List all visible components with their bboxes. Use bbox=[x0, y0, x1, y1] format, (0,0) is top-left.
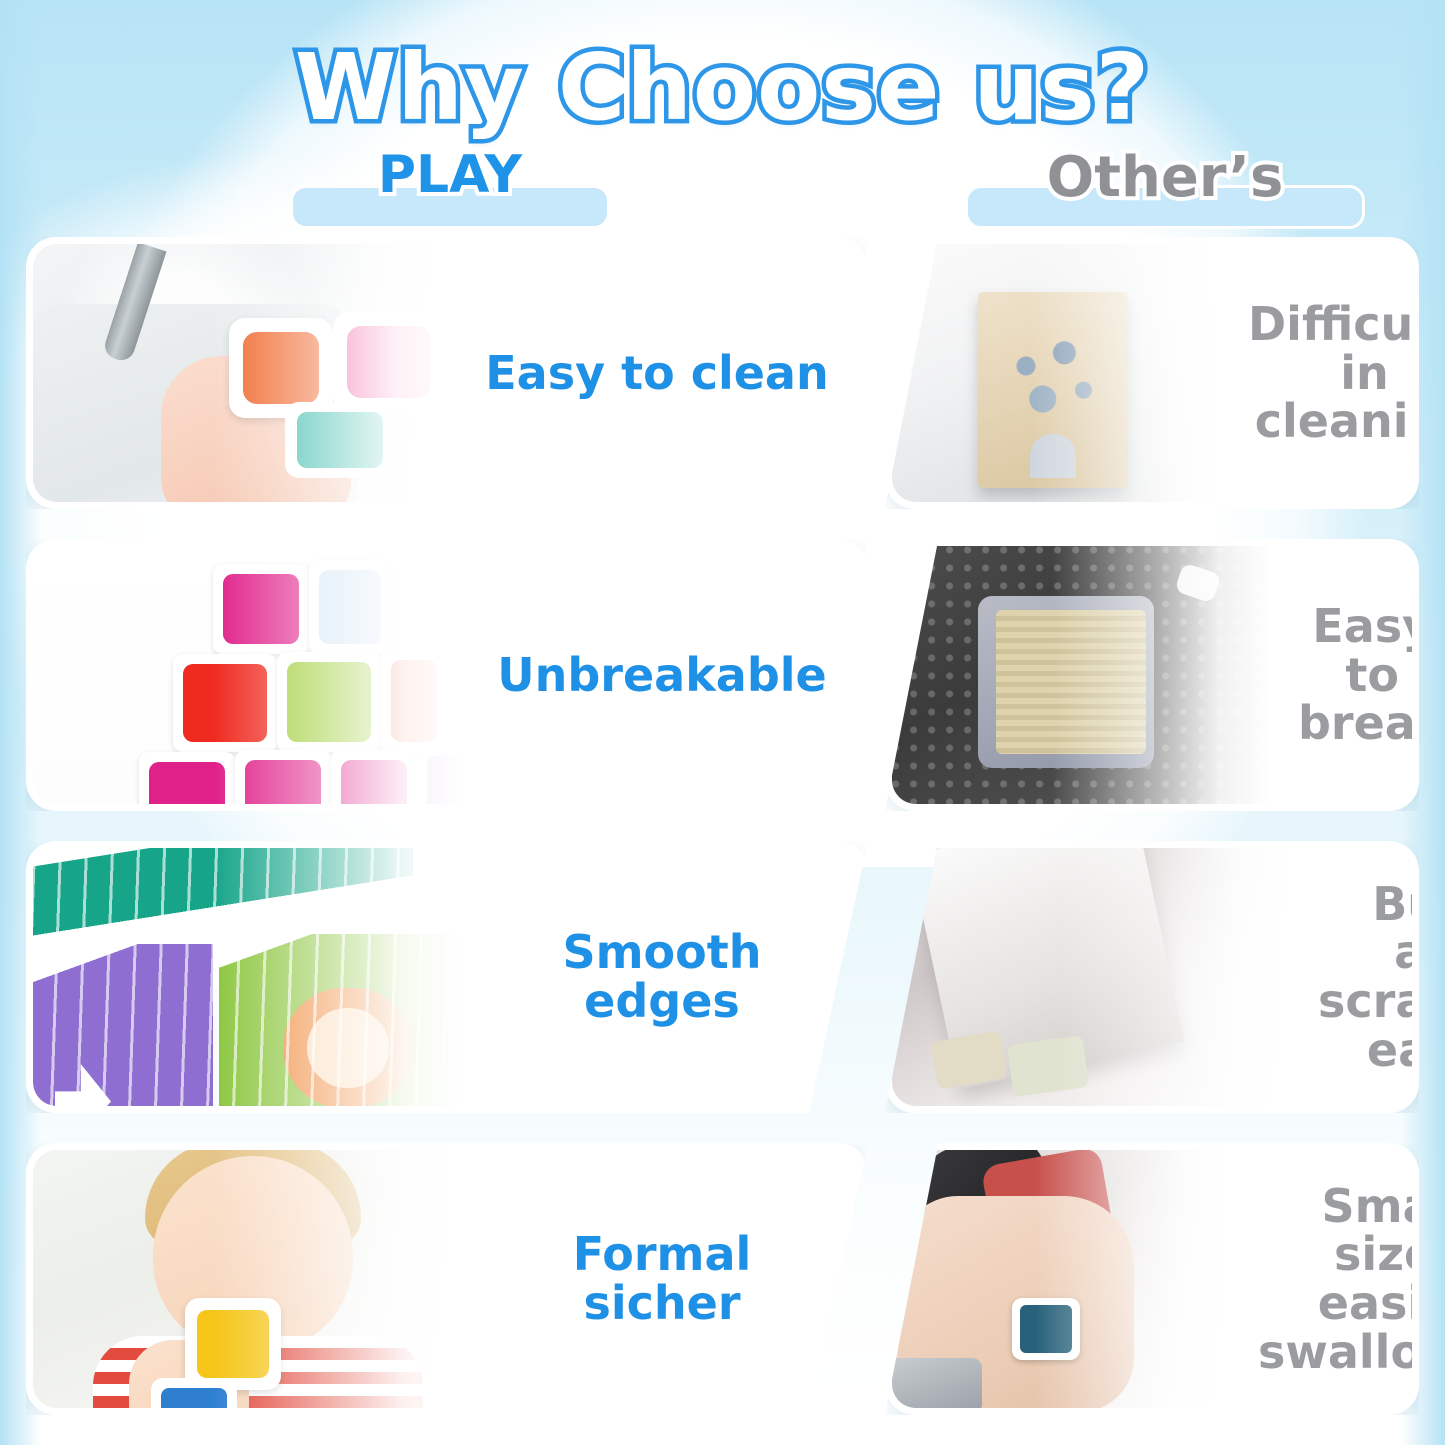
play-label-row4: Formal sicher bbox=[463, 1230, 861, 1328]
stained-wooden-block-image bbox=[892, 244, 1222, 502]
play-label-row2: Unbreakable bbox=[463, 651, 861, 700]
baby-chewing-soft-cube-image bbox=[33, 1150, 463, 1408]
column-headers: PLAY Other’s bbox=[0, 145, 1445, 237]
other-label-row3: Burrs and scratches easily bbox=[1292, 880, 1412, 1075]
tiny-block-in-adult-palm-image bbox=[892, 1150, 1232, 1408]
page-title: Why Choose us? bbox=[295, 34, 1150, 141]
other-label-row4: Small size, easily swallowed bbox=[1232, 1182, 1412, 1377]
broken-foam-block-on-carpet-image bbox=[892, 546, 1272, 804]
comparison-row: Easy to clean Difficulty in cleaning bbox=[26, 237, 1419, 525]
comparison-rows: Easy to clean Difficulty in cleaning Unb… bbox=[0, 237, 1445, 1431]
play-card-row3: Smooth edges bbox=[26, 841, 868, 1113]
comparison-row: Smooth edges Burrs and scratches easily bbox=[26, 841, 1419, 1129]
comparison-row: Formal sicher Small size, easily swallow… bbox=[26, 1143, 1419, 1431]
stacked-colorful-toy-blocks-image bbox=[33, 546, 463, 804]
play-header-label: PLAY bbox=[290, 145, 610, 205]
play-label-row3: Smooth edges bbox=[463, 928, 861, 1026]
others-header-label: Other’s bbox=[965, 145, 1365, 210]
soft-cube-rounded-corner-closeup-image bbox=[33, 848, 463, 1106]
other-card-row2: Easy to break bbox=[885, 539, 1419, 811]
toy-cube-washed-under-faucet-image bbox=[33, 244, 453, 502]
other-card-row4: Small size, easily swallowed bbox=[885, 1143, 1419, 1415]
comparison-row: Unbreakable Easy to break bbox=[26, 539, 1419, 827]
play-card-row2: Unbreakable bbox=[26, 539, 868, 811]
other-label-row1: Difficulty in cleaning bbox=[1222, 300, 1412, 446]
play-card-row4: Formal sicher bbox=[26, 1143, 868, 1415]
other-card-row1: Difficulty in cleaning bbox=[885, 237, 1419, 509]
title-area: Why Choose us? bbox=[0, 0, 1445, 141]
play-card-row1: Easy to clean bbox=[26, 237, 868, 509]
other-card-row3: Burrs and scratches easily bbox=[885, 841, 1419, 1113]
scratched-wooden-slab-edge-image bbox=[892, 848, 1292, 1106]
other-label-row2: Easy to break bbox=[1272, 602, 1412, 748]
play-label-row1: Easy to clean bbox=[453, 349, 861, 398]
